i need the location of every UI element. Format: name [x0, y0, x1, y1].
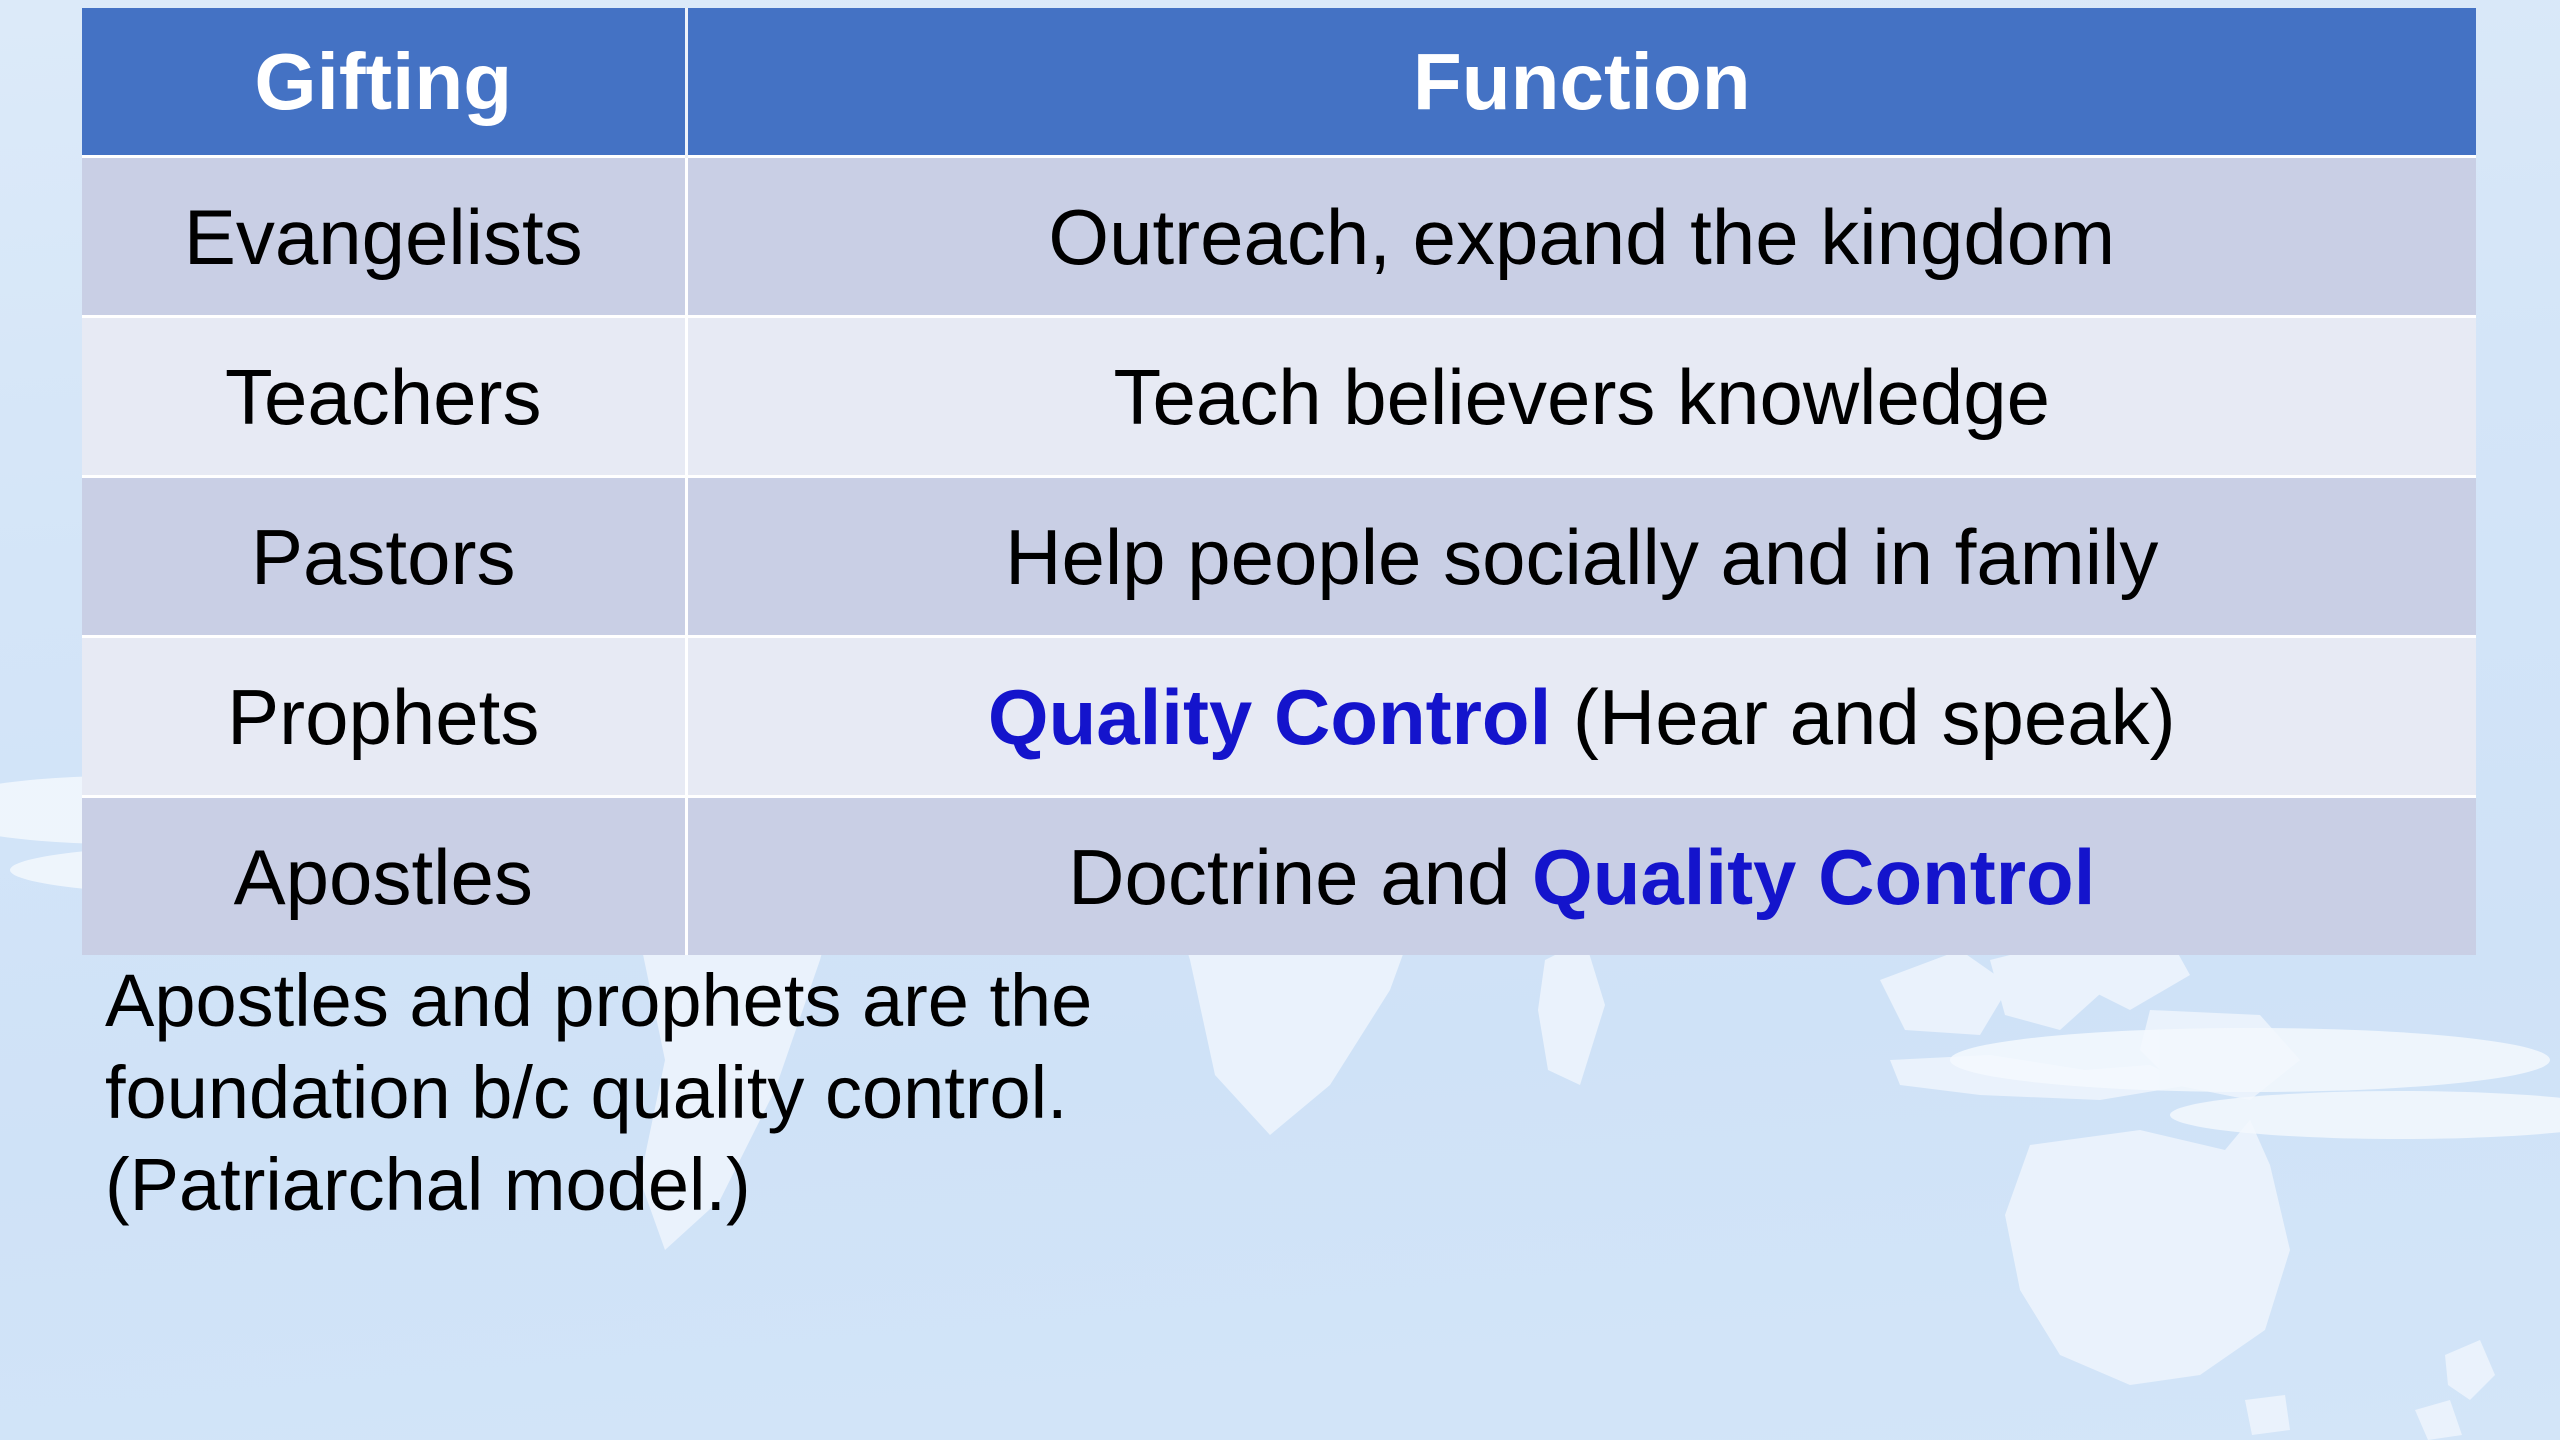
cell-function-pastors: Help people socially and in family — [686, 477, 2476, 637]
column-header-gifting: Gifting — [82, 8, 686, 157]
cell-gifting-apostles: Apostles — [82, 797, 686, 956]
cell-function-prophets: Quality Control (Hear and speak) — [686, 637, 2476, 797]
cell-gifting-evangelists: Evangelists — [82, 157, 686, 317]
slide-canvas: Gifting Function Evangelists Outreach, e… — [0, 0, 2560, 1440]
caption-line-2: foundation b/c quality control. — [105, 1047, 1605, 1139]
function-text: Teach believers knowledge — [1113, 353, 2050, 441]
table-row-pastors: Pastors Help people socially and in fami… — [82, 477, 2476, 637]
quality-control-highlight: Quality Control — [988, 673, 1551, 761]
function-text: (Hear and speak) — [1551, 673, 2175, 761]
table-row-prophets: Prophets Quality Control (Hear and speak… — [82, 637, 2476, 797]
table-row-teachers: Teachers Teach believers knowledge — [82, 317, 2476, 477]
table-row-evangelists: Evangelists Outreach, expand the kingdom — [82, 157, 2476, 317]
cell-gifting-prophets: Prophets — [82, 637, 686, 797]
cell-function-evangelists: Outreach, expand the kingdom — [686, 157, 2476, 317]
cell-function-teachers: Teach believers knowledge — [686, 317, 2476, 477]
column-header-function: Function — [686, 8, 2476, 157]
caption-line-1: Apostles and prophets are the — [105, 955, 1605, 1047]
function-text: Help people socially and in family — [1005, 513, 2158, 601]
gifting-function-table: Gifting Function Evangelists Outreach, e… — [82, 8, 2476, 955]
cell-gifting-teachers: Teachers — [82, 317, 686, 477]
table-row-apostles: Apostles Doctrine and Quality Control — [82, 797, 2476, 956]
quality-control-highlight: Quality Control — [1532, 833, 2095, 921]
cell-gifting-pastors: Pastors — [82, 477, 686, 637]
table-header-row: Gifting Function — [82, 8, 2476, 157]
cell-function-apostles: Doctrine and Quality Control — [686, 797, 2476, 956]
table-body: Evangelists Outreach, expand the kingdom… — [82, 157, 2476, 956]
function-text: Doctrine and — [1068, 833, 1532, 921]
slide-caption: Apostles and prophets are the foundation… — [105, 955, 1605, 1230]
caption-line-3: (Patriarchal model.) — [105, 1139, 1605, 1231]
function-text: Outreach, expand the kingdom — [1048, 193, 2115, 281]
